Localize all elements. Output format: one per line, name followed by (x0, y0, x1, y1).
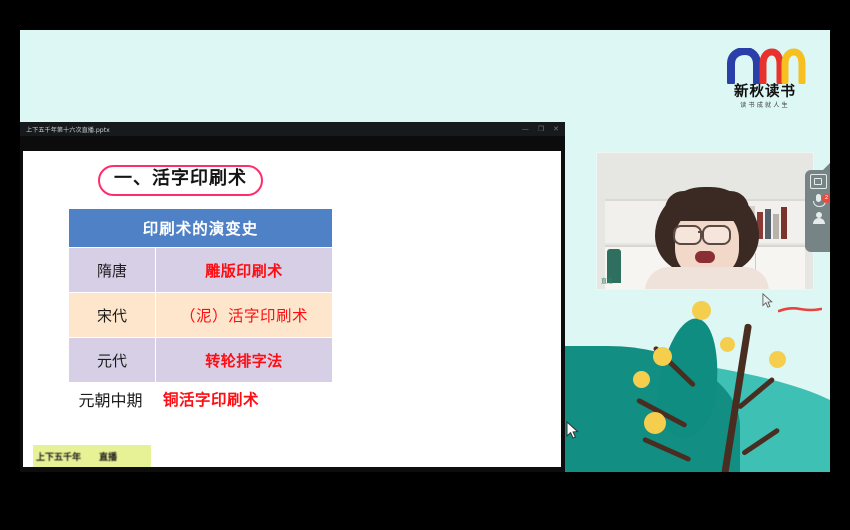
maximize-icon[interactable]: ❐ (538, 126, 544, 133)
toolbar-notch (822, 161, 830, 171)
red-underline-annotation (778, 307, 822, 313)
table-header-row: 印刷术的演变史 (69, 209, 333, 248)
table-row: 隋唐 雕版印刷术 (69, 248, 333, 293)
stream-toolbar[interactable]: 2 (805, 170, 830, 252)
people-icon[interactable] (811, 212, 826, 225)
berry (633, 371, 650, 388)
notification-badge: 2 (822, 194, 830, 203)
brand-logo: 新秋读书 读书成就人生 (710, 48, 820, 126)
banner-label-2: 直播 (99, 450, 117, 463)
minimize-icon[interactable]: — (522, 126, 529, 133)
ppt-window-title: 上下五千年第十六次直播.pptx (26, 124, 110, 134)
ppt-titlebar[interactable]: 上下五千年第十六次直播.pptx — ❐ ✕ (20, 122, 565, 136)
ppt-slide[interactable]: 一、活字印刷术 印刷术的演变史 隋唐 雕版印刷术 宋代 （泥）活字印刷术 元代 (23, 151, 561, 467)
cell-tech: 铜活字印刷术 (163, 388, 259, 410)
berry (653, 347, 672, 366)
cell-tech: （泥）活字印刷术 (156, 293, 333, 338)
presenter-video[interactable]: 直播 (596, 152, 814, 290)
printing-history-table: 印刷术的演变史 隋唐 雕版印刷术 宋代 （泥）活字印刷术 元代 转轮排字法 (68, 208, 333, 383)
cell-tech: 转轮排字法 (156, 338, 333, 383)
glasses-bridge (698, 231, 704, 233)
table-row-overflow: 元朝中期 铜活字印刷术 (58, 387, 358, 411)
table-header-cell: 印刷术的演变史 (69, 209, 333, 248)
brand-tagline: 读书成就人生 (740, 103, 790, 109)
slide-footer-banner: 上下五千年 直播 (33, 445, 151, 467)
berry (644, 412, 666, 434)
fringe (665, 191, 749, 221)
brand-name: 新秋读书 (734, 85, 796, 100)
ppt-ribbon-strip (20, 136, 565, 151)
berry (692, 301, 711, 320)
video-watermark: 直播 (601, 276, 613, 285)
cell-era: 元朝中期 (58, 387, 163, 411)
berry (720, 337, 735, 352)
mouth (695, 251, 715, 263)
berry (769, 351, 786, 368)
slide-heading: 一、活字印刷术 (98, 165, 263, 196)
close-icon[interactable]: ✕ (553, 126, 559, 133)
table-row: 元代 转轮排字法 (69, 338, 333, 383)
brand-logo-icon (723, 48, 807, 84)
glasses-left (673, 225, 702, 245)
camera-icon[interactable] (810, 174, 827, 189)
cell-era: 元代 (69, 338, 156, 383)
presenter-figure (655, 187, 759, 289)
table-row: 宋代 （泥）活字印刷术 (69, 293, 333, 338)
window-controls: — ❐ ✕ (522, 122, 559, 136)
cell-era: 宋代 (69, 293, 156, 338)
screen-root: 新秋读书 读书成就人生 (0, 0, 850, 530)
broadcast-canvas: 新秋读书 读书成就人生 (20, 30, 830, 472)
ppt-window[interactable]: 上下五千年第十六次直播.pptx — ❐ ✕ 一、活字印刷术 印刷术的演变史 隋… (20, 122, 565, 472)
cell-tech: 雕版印刷术 (156, 248, 333, 293)
glasses-right (702, 225, 731, 245)
banner-label: 上下五千年 (36, 450, 81, 463)
cell-era: 隋唐 (69, 248, 156, 293)
torso (645, 267, 769, 290)
